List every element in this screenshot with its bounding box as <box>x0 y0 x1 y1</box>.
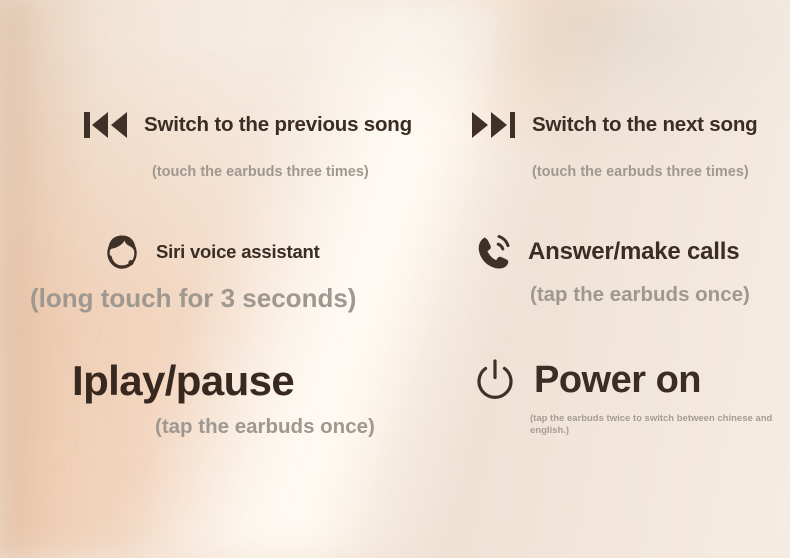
phone-call-icon <box>472 230 516 274</box>
next-track-icon <box>470 108 520 142</box>
siri-title: Siri voice assistant <box>156 241 320 263</box>
play-pause-title: Iplay/pause <box>0 357 420 405</box>
control-item-previous-song: Switch to the previous song (touch the e… <box>0 108 420 180</box>
previous-track-icon <box>82 108 132 142</box>
control-item-siri: Siri voice assistant (long touch for 3 s… <box>0 230 420 314</box>
power-on-headline: Power on <box>420 357 790 403</box>
siri-headline: Siri voice assistant <box>0 230 420 274</box>
play-pause-hint: (tap the earbuds once) <box>0 415 420 439</box>
siri-hint: (long touch for 3 seconds) <box>0 283 420 314</box>
power-icon <box>472 357 518 403</box>
next-song-hint: (touch the earbuds three times) <box>420 164 790 180</box>
infographic-canvas: Switch to the previous song (touch the e… <box>0 0 790 558</box>
previous-song-hint: (touch the earbuds three times) <box>0 164 420 180</box>
controls-grid: Switch to the previous song (touch the e… <box>0 0 790 558</box>
next-song-title: Switch to the next song <box>532 113 757 137</box>
calls-title: Answer/make calls <box>528 238 739 266</box>
calls-hint: (tap the earbuds once) <box>420 283 790 307</box>
control-item-power-on: Power on (tap the earbuds twice to switc… <box>420 357 790 437</box>
control-item-play-pause: Iplay/pause (tap the earbuds once) <box>0 357 420 439</box>
voice-assistant-headset-icon <box>100 230 144 274</box>
power-on-title: Power on <box>534 359 701 402</box>
power-on-hint: (tap the earbuds twice to switch between… <box>420 413 782 437</box>
control-item-next-song: Switch to the next song (touch the earbu… <box>420 108 790 180</box>
previous-song-headline: Switch to the previous song <box>0 108 420 142</box>
next-song-headline: Switch to the next song <box>420 108 790 142</box>
previous-song-title: Switch to the previous song <box>144 113 412 137</box>
control-item-calls: Answer/make calls (tap the earbuds once) <box>420 230 790 307</box>
calls-headline: Answer/make calls <box>420 230 790 274</box>
